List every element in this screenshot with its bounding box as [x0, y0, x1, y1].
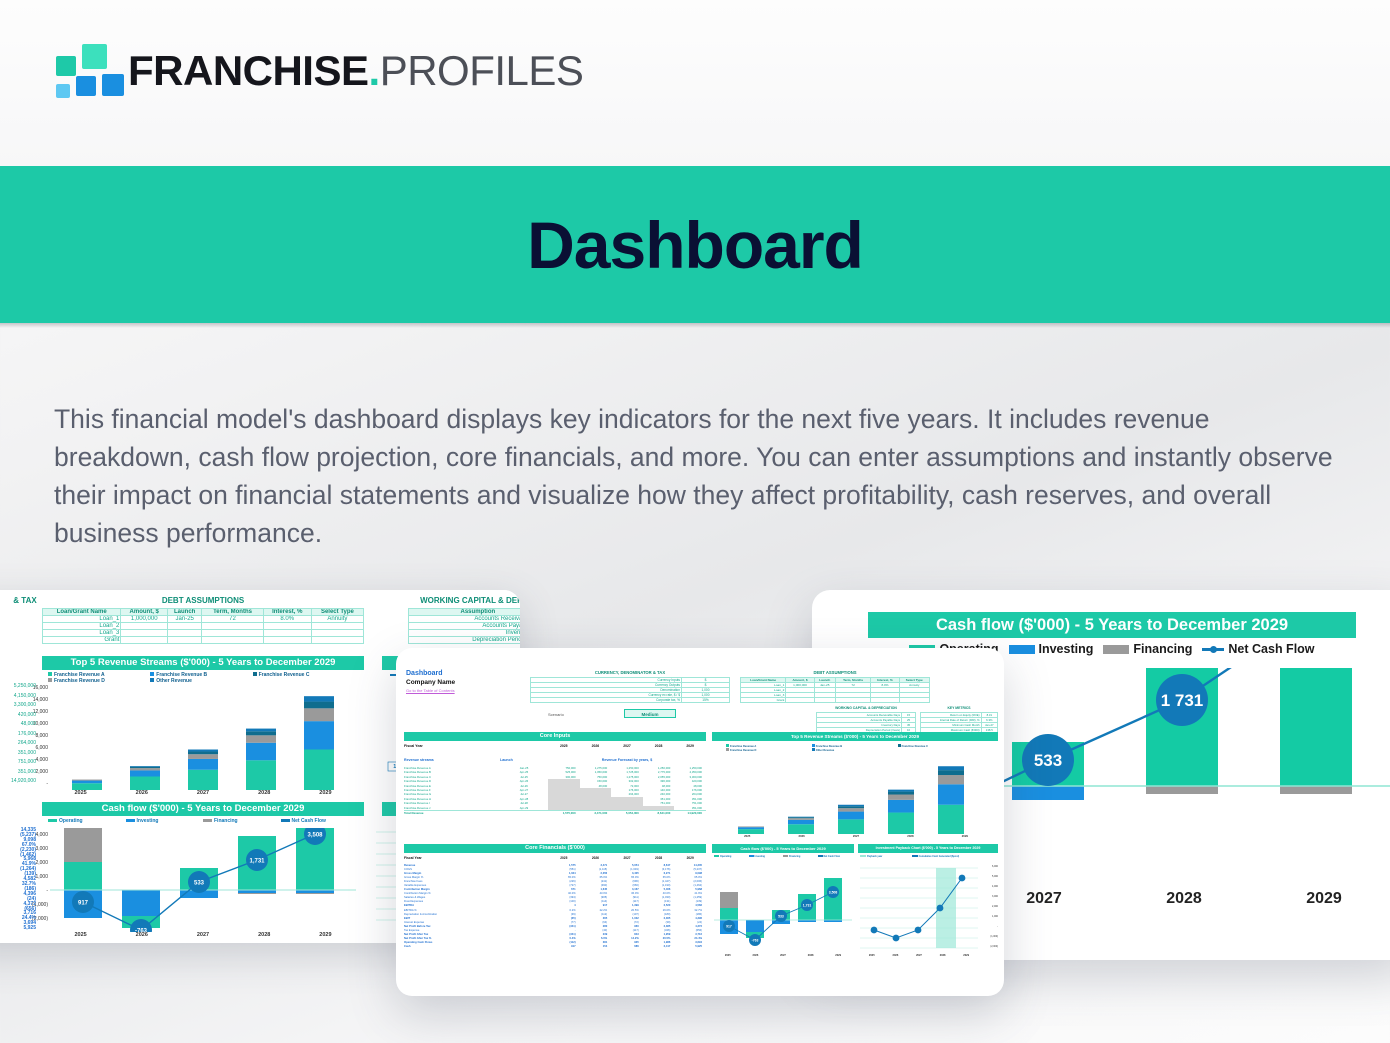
table-row[interactable]: Accounts Receivable Days15	[409, 616, 521, 623]
center-revenue-legend: Franchise Revenue AFranchise Revenue BFr…	[726, 744, 986, 752]
revenue-chart-x-axis: 20252026202720282029	[50, 790, 356, 796]
axis-tick: 6,000	[980, 862, 998, 872]
table-cell[interactable]: Corporate tax, %	[531, 698, 682, 703]
axis-tick: 2025	[50, 932, 111, 938]
axis-tick: 420,000	[0, 711, 36, 721]
legend-item: Net Cash Flow	[818, 855, 853, 858]
table-cell[interactable]: 351,000	[674, 806, 706, 810]
axis-tick: 2,000	[980, 902, 998, 912]
core-financials-fiscal-year-label: Fiscal Year	[404, 856, 422, 860]
axis-tick: 2028	[234, 790, 295, 796]
axis-tick: 4,000	[980, 882, 998, 892]
table-cell[interactable]	[168, 630, 202, 637]
legend-item: Franchise Revenue D	[726, 748, 812, 752]
table-cell: 14,920,000	[674, 811, 706, 816]
table-cell[interactable]: Accounts Receivable Days	[409, 616, 521, 623]
center-wc-table[interactable]: Accounts Receivable Days15Accounts Payab…	[816, 712, 916, 733]
table-cell[interactable]	[871, 698, 899, 703]
axis-tick: 2029	[954, 954, 978, 957]
legend-swatch	[1103, 645, 1129, 654]
revenue-chart-plot	[50, 682, 356, 790]
table-cell[interactable]	[121, 630, 168, 637]
table-cell[interactable]: Grant	[741, 698, 786, 703]
table-header-cell: Amount, $	[121, 609, 168, 616]
table-cell: 5,054,000	[611, 811, 643, 816]
debt-assumptions-table[interactable]: Loan/Grant NameAmount, $LaunchTerm, Mont…	[42, 608, 364, 644]
logo-squares-icon	[54, 42, 110, 100]
axis-tick: 2026	[742, 954, 770, 957]
table-cell[interactable]: 72	[202, 616, 263, 623]
left-cashflow-x-axis: 20252026202720282029	[50, 932, 356, 938]
center-revenue-chart-header: Top 5 Revenue Streams ($'000) - 5 Years …	[712, 732, 998, 741]
legend-item: Payback year	[860, 855, 912, 858]
legend-item: Financing	[203, 818, 281, 824]
table-header-cell: Loan/Grant Name	[43, 609, 121, 616]
axis-tick: 2029	[1254, 890, 1390, 916]
axis-tick: 2028	[234, 932, 295, 938]
table-cell: 3,471,000	[580, 811, 612, 816]
table-cell[interactable]	[202, 623, 263, 630]
table-cell[interactable]: Inventory Days	[409, 630, 521, 637]
center-revenue-plot	[720, 756, 992, 834]
axis-tick: 2025	[50, 790, 111, 796]
axis-tick: 351,000	[0, 749, 36, 759]
table-cell[interactable]	[835, 698, 871, 703]
left-cashflow-chart-title: Cash flow ($'000) - 5 Years to December …	[42, 802, 364, 816]
table-header-cell: Launch	[168, 609, 202, 616]
page-description: This financial model's dashboard display…	[54, 400, 1344, 552]
core-financials-rows[interactable]: Revenue1,5753,4715,0548,64714,335COGS(55…	[404, 864, 706, 949]
table-cell[interactable]	[786, 698, 814, 703]
axis-tick: 176,000	[0, 730, 36, 740]
legend-item: Operating	[714, 855, 749, 858]
table-header-cell: Interest, %	[263, 609, 311, 616]
table-cell[interactable]: Accounts Payable Days	[409, 623, 521, 630]
axis-tick: 2029	[295, 932, 356, 938]
center-company-name: Company Name	[406, 679, 455, 686]
center-payback-y-axis: 6,0005,0004,0003,0002,0001,000-(1,000)(2…	[980, 862, 998, 952]
table-header-cell: Select Type	[311, 609, 363, 616]
svg-text:917: 917	[726, 924, 732, 928]
table-row[interactable]: Grant	[741, 698, 930, 703]
legend-label: Investing	[1039, 642, 1094, 656]
svg-text:1,731: 1,731	[249, 859, 265, 865]
table-cell[interactable]: Loan_3	[43, 630, 121, 637]
left-ratio-values: 14,335(5,237)9,09867.0%(2,230)(1,462)5,9…	[0, 828, 36, 931]
table-cell[interactable]	[202, 630, 263, 637]
table-cell[interactable]	[202, 637, 263, 644]
table-cell[interactable]	[311, 623, 363, 630]
svg-text:3,508: 3,508	[829, 890, 838, 894]
axis-tick: 351,000	[0, 768, 36, 778]
table-cell: 1,575,000	[548, 811, 580, 816]
brand-name-thin: PROFILES	[380, 47, 584, 94]
axis-tick: 2026	[884, 954, 908, 957]
table-header-cell: Assumption	[409, 609, 521, 616]
legend-item: Operating	[48, 818, 126, 824]
axis-tick: 2027	[829, 834, 883, 838]
table-cell[interactable]	[814, 698, 835, 703]
table-cell[interactable]: 8.0%	[263, 616, 311, 623]
core-financials-years: 20252026202720282029	[548, 856, 706, 860]
axis-tick: 4,150,000	[0, 692, 36, 702]
legend-swatch	[1009, 645, 1035, 654]
legend-item: Other Revenue	[812, 748, 898, 752]
table-row[interactable]: Loan_11,000,000Jan-25728.0%Annuity	[43, 616, 364, 623]
axis-tick: 5,925	[0, 926, 36, 931]
core-inputs-rows[interactable]: Franchise Revenue AJan-25750,0001,275,00…	[404, 766, 706, 816]
svg-text:3,508: 3,508	[307, 833, 323, 839]
brand-wordmark: FRANCHISE.PROFILES	[128, 50, 583, 92]
currency-table[interactable]: Currency Inputs$Currency Outputs$Denomin…	[530, 677, 730, 703]
row-label: Franchise Revenue J	[404, 806, 500, 810]
debt-assumptions-header: DEBT ASSUMPTIONS	[42, 596, 364, 607]
table-cell[interactable]: Jan-25	[168, 616, 202, 623]
legend-item: Franchise Revenue C	[898, 744, 984, 748]
left-cashflow-plot: 917-7635331,7313,508	[50, 828, 356, 932]
center-revenue-x-axis: 20252026202720282029	[720, 834, 992, 838]
axis-tick: 2029	[824, 954, 852, 957]
table-row[interactable]: Loan_3	[43, 630, 364, 637]
table-cell[interactable]: Loan_2	[43, 623, 121, 630]
axis-tick: 2026	[111, 932, 172, 938]
launch-label: Launch	[500, 758, 513, 762]
table-row[interactable]: Accounts Payable Days25	[409, 623, 521, 630]
center-payback-plot	[860, 862, 978, 954]
axis-tick: 2028	[1114, 890, 1254, 916]
center-toc-link[interactable]: Go to the Table of Contents	[406, 688, 455, 693]
svg-text:533: 533	[1034, 751, 1062, 770]
year-header: 2029	[674, 744, 706, 748]
legend-item: Financing	[783, 855, 818, 858]
brand-logo: FRANCHISE.PROFILES	[54, 42, 583, 100]
legend-swatch	[1202, 648, 1224, 651]
table-cell[interactable]	[263, 630, 311, 637]
center-cashflow-legend: OperatingInvestingFinancingNet Cash Flow	[714, 855, 852, 858]
page-title: Dashboard	[527, 207, 863, 283]
axis-tick: 751,000	[0, 758, 36, 768]
axis-tick: 5,000	[980, 872, 998, 882]
axis-tick: 2029	[295, 790, 356, 796]
scenario-label: Scenario	[548, 712, 564, 717]
axis-tick: 3,000	[980, 892, 998, 902]
table-header-cell: Term, Months	[202, 609, 263, 616]
svg-text:1 731: 1 731	[1161, 691, 1204, 710]
center-dashboard-title: Dashboard	[406, 670, 443, 677]
svg-text:1,731: 1,731	[803, 903, 812, 907]
year-header: 2026	[580, 744, 612, 748]
center-cashflow-header: Cash flow ($'000) - 5 Years to December …	[712, 844, 854, 853]
brand-name-bold: FRANCHISE	[128, 47, 369, 94]
table-cell[interactable]	[263, 637, 311, 644]
table-cell[interactable]	[121, 623, 168, 630]
center-payback-header: Investment Payback Chart ($'000) - 5 Yea…	[858, 844, 998, 853]
table-cell[interactable]	[611, 806, 643, 810]
center-km-table[interactable]: Return on Equity (ROE)8.31Internal Rate …	[920, 712, 998, 733]
axis-tick: 2027	[172, 932, 233, 938]
row-label: Cash	[404, 945, 548, 949]
center-cashflow-x-axis: 20252026202720282029	[714, 954, 852, 957]
axis-tick: 2025	[714, 954, 742, 957]
year-header: 2025	[548, 744, 580, 748]
legend-item: Net Cash Flow	[1202, 642, 1314, 656]
title-band: Dashboard	[0, 166, 1390, 323]
axis-tick: 2028	[797, 954, 825, 957]
year-header: 2028	[643, 856, 675, 860]
table-row[interactable]: Cash9171546862,4175,925	[404, 945, 706, 949]
year-header: 2026	[580, 856, 612, 860]
brand-name-dot: .	[369, 47, 380, 94]
axis-tick: 2027	[769, 954, 797, 957]
year-header: 2027	[611, 744, 643, 748]
year-header: 2025	[548, 856, 580, 860]
legend-item: Franchise Revenue C	[253, 672, 355, 678]
table-row[interactable]: Depreciation Period (Years)10	[409, 637, 521, 644]
working-capital-header: WORKING CAPITAL & DEPRECIATION	[408, 596, 520, 607]
center-km-header: KEY METRICS	[920, 706, 998, 710]
svg-text:917: 917	[78, 901, 89, 907]
band-shadow	[0, 323, 1390, 328]
row-launch: Apr-29	[500, 806, 548, 810]
center-payback-x-axis: 20252026202720282029	[860, 954, 978, 957]
legend-item: Investing	[126, 818, 204, 824]
table-cell[interactable]	[168, 637, 202, 644]
year-header: 2028	[643, 744, 675, 748]
table-cell[interactable]	[311, 637, 363, 644]
table-row[interactable]: Corporate tax, %15%	[531, 698, 730, 703]
axis-tick: 2028	[883, 834, 937, 838]
table-cell: 8,641,000	[643, 811, 675, 816]
total-label: Total Revenue	[404, 811, 548, 816]
axis-tick: (2,000)	[980, 942, 998, 952]
table-cell[interactable]	[311, 630, 363, 637]
axis-tick: 2025	[720, 834, 774, 838]
year-header: 2027	[611, 856, 643, 860]
table-cell[interactable]	[263, 623, 311, 630]
legend-item: Investing	[749, 855, 784, 858]
table-row[interactable]: Inventory Days45	[409, 630, 521, 637]
axis-tick: 2027	[172, 790, 233, 796]
revenue-chart-title: Top 5 Revenue Streams ($'000) - 5 Years …	[42, 656, 364, 670]
svg-text:533: 533	[778, 914, 784, 918]
svg-text:-763: -763	[752, 938, 759, 942]
table-cell[interactable]: Annuity	[311, 616, 363, 623]
legend-item: Investing	[1009, 642, 1094, 656]
table-cell[interactable]	[580, 806, 612, 810]
left-side-values: 5,250,0004,150,0003,300,000420,00048,000…	[0, 682, 36, 787]
legend-label: Net Cash Flow	[1228, 642, 1314, 656]
core-inputs-header: Core Inputs	[404, 732, 706, 741]
axis-tick: 2028	[931, 954, 955, 957]
table-cell[interactable]	[899, 698, 929, 703]
core-inputs-years: 20252026202720282029	[548, 744, 706, 748]
dashboard-preview-card[interactable]: Dashboard Company Name Go to the Table o…	[396, 648, 1004, 996]
table-cell[interactable]: 2,417	[643, 945, 675, 949]
year-header: 2029	[674, 856, 706, 860]
axis-tick: 48,000	[0, 720, 36, 730]
center-debt-header: DEBT ASSUMPTIONS	[740, 670, 930, 675]
table-cell[interactable]	[168, 623, 202, 630]
scenario-select[interactable]: Medium	[624, 709, 676, 718]
table-cell[interactable]: 154	[580, 945, 612, 949]
axis-tick: 2027	[907, 954, 931, 957]
table-cell[interactable]: 5,925	[674, 945, 706, 949]
legend-item: Cumulative Cash Generated ($post)	[912, 855, 994, 858]
axis-tick: -	[980, 922, 998, 932]
table-row-total: Total Revenue1,575,0003,471,0005,054,000…	[404, 810, 706, 816]
table-cell[interactable]: Grant	[43, 637, 121, 644]
table-cell[interactable]: 1,000,000	[121, 616, 168, 623]
page-header: FRANCHISE.PROFILES	[0, 0, 1390, 166]
table-cell[interactable]	[121, 637, 168, 644]
center-payback-legend: Payback yearCumulative Cash Generated ($…	[860, 855, 996, 858]
left-cashflow-legend: OperatingInvestingFinancingNet Cash Flow	[48, 818, 358, 824]
axis-tick: (1,000)	[980, 932, 998, 942]
axis-tick: 2029	[938, 834, 992, 838]
core-inputs-fiscal-year-label: Fiscal Year	[404, 744, 423, 748]
revenue-streams-label: Revenue streams	[404, 758, 434, 762]
table-row[interactable]: Loan_2	[43, 623, 364, 630]
currency-section-header: CURRENCY, DENOMINATOR & TAX	[530, 670, 730, 675]
axis-tick: 1,000	[980, 912, 998, 922]
cashflow-chart-title: Cash flow ($'000) - 5 Years to December …	[868, 612, 1356, 638]
axis-tick: 2025	[860, 954, 884, 957]
legend-label: Financing	[1133, 642, 1192, 656]
center-cashflow-plot: 917-7635331,7313,508	[714, 862, 852, 954]
legend-item: Financing	[1103, 642, 1192, 656]
axis-tick: 3,300,000	[0, 701, 36, 711]
table-row[interactable]: Franchise Revenue JApr-29351,000	[404, 806, 706, 810]
table-cell[interactable]	[643, 806, 675, 810]
working-capital-table[interactable]: AssumptionValueAccounts Receivable Days1…	[408, 608, 520, 644]
table-cell[interactable]	[548, 806, 580, 810]
table-cell[interactable]: Depreciation Period (Years)	[409, 637, 521, 644]
table-cell[interactable]: 15%	[681, 698, 729, 703]
svg-text:533: 533	[194, 881, 205, 887]
axis-tick: 2026	[774, 834, 828, 838]
table-cell[interactable]: 917	[548, 945, 580, 949]
table-row[interactable]: Grant	[43, 637, 364, 644]
table-cell[interactable]: Loan_1	[43, 616, 121, 623]
axis-tick: 264,000	[0, 739, 36, 749]
center-wc-header: WORKING CAPITAL & DEPRECIATION	[816, 706, 916, 710]
core-financials-header: Core Financials ($'000)	[404, 844, 706, 853]
center-debt-table[interactable]: Loan/Grant NameAmount, $LaunchTerm, Mont…	[740, 677, 930, 703]
axis-tick: 2026	[111, 790, 172, 796]
axis-tick: 5,250,000	[0, 682, 36, 692]
revenue-forecast-label: Revenue Forecast by years, $	[548, 758, 706, 762]
legend-item: Net Cash Flow	[281, 818, 359, 824]
axis-tick: 14,920,000	[0, 777, 36, 787]
table-cell[interactable]: 686	[611, 945, 643, 949]
